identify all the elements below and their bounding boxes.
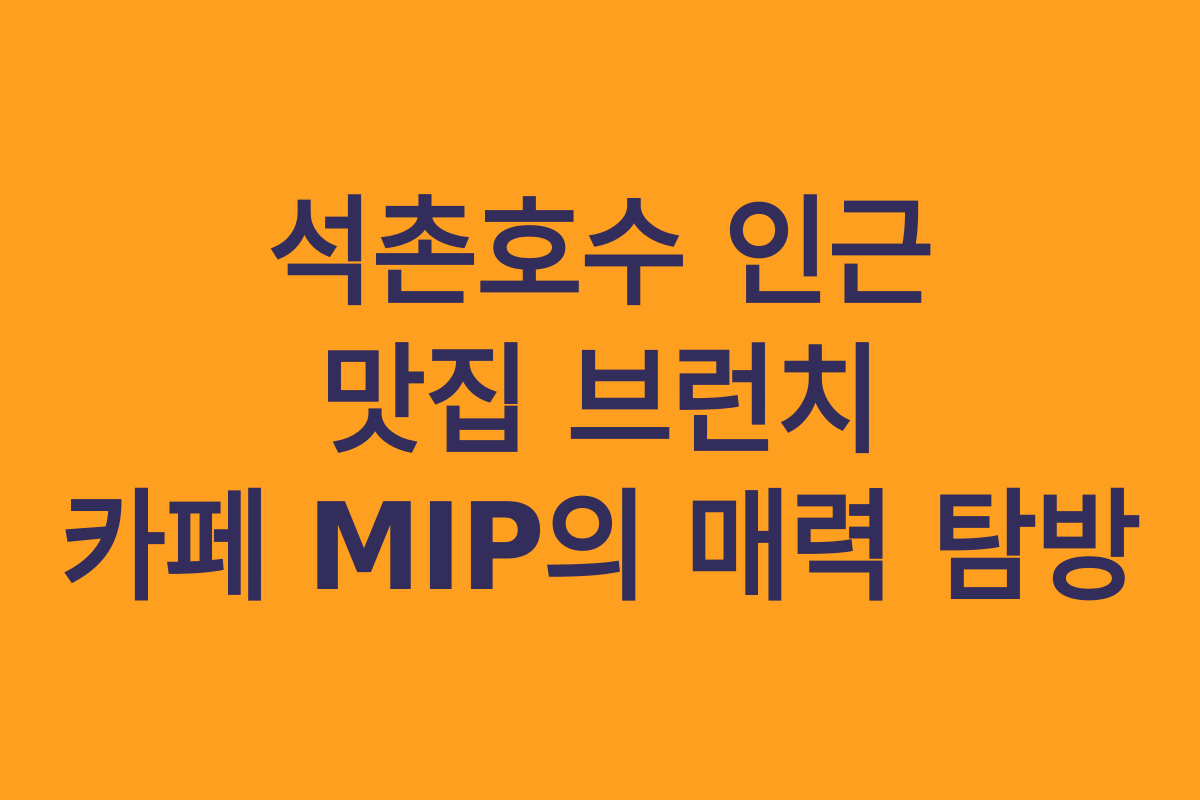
title-line-1: 석촌호수 인근 (12, 179, 1188, 327)
title-line-2: 맛집 브런치 (12, 327, 1188, 475)
title-block: 석촌호수 인근 맛집 브런치 카페 MIP의 매력 탐방 (0, 179, 1200, 623)
title-line-3: 카페 MIP의 매력 탐방 (24, 475, 1176, 623)
title-card: 석촌호수 인근 맛집 브런치 카페 MIP의 매력 탐방 (0, 0, 1200, 800)
